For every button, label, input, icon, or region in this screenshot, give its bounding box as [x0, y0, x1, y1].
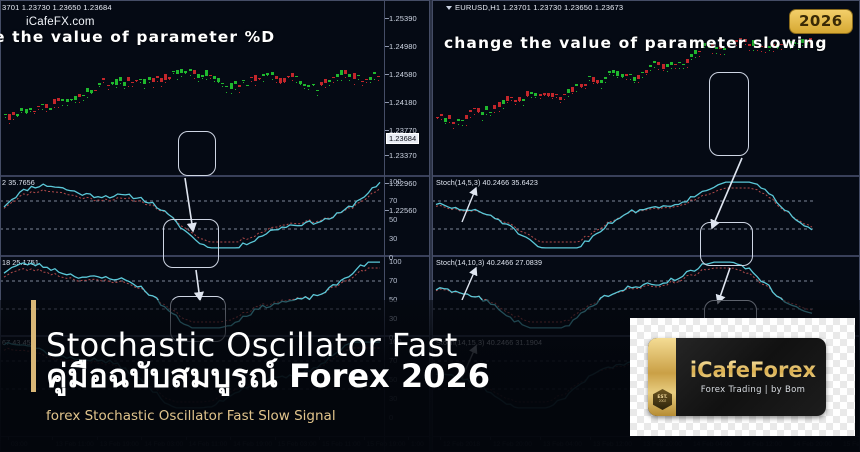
candle-body: [481, 112, 484, 115]
candle-wick: [474, 114, 475, 115]
candle-body: [37, 106, 40, 107]
candle-body: [600, 80, 603, 83]
candle-body: [440, 114, 443, 116]
candle-body: [115, 79, 118, 84]
candle-body: [98, 83, 101, 85]
candle-wick: [597, 83, 598, 84]
logo-tagline: Forex Trading | by Bom: [684, 385, 822, 395]
candle-wick: [687, 67, 688, 68]
candle-body: [588, 76, 591, 77]
candle-body: [25, 109, 28, 113]
candle-body: [616, 71, 619, 76]
candle-body: [657, 62, 660, 65]
candle-body: [271, 72, 274, 75]
candle-wick: [494, 112, 495, 113]
candle-wick: [54, 107, 55, 108]
candle-body: [498, 102, 501, 107]
candle-wick: [157, 81, 158, 82]
candle-wick: [691, 59, 692, 60]
candle-body: [275, 76, 278, 80]
stoch-scale-label: 100: [389, 257, 402, 266]
candle-wick: [490, 115, 491, 116]
candle-wick: [601, 88, 602, 89]
candle-wick: [263, 81, 264, 82]
candle-wick: [540, 98, 541, 99]
candle-body: [234, 81, 237, 84]
candle-body: [287, 76, 290, 77]
candle-body: [238, 85, 241, 88]
candle-wick: [30, 111, 31, 112]
candle-wick: [280, 83, 281, 84]
candle-body: [666, 64, 669, 67]
candle-wick: [527, 96, 528, 97]
screenshot-root: 3701 1.23730 1.23650 1.23684 2 35.7656 1…: [0, 0, 860, 452]
candle-body: [547, 93, 550, 96]
candle-wick: [642, 77, 643, 78]
candle-wick: [5, 117, 6, 118]
candle-wick: [222, 86, 223, 87]
candle-wick: [272, 79, 273, 80]
candle-body: [131, 82, 134, 83]
candle-body: [336, 74, 339, 77]
watermark: iCafeFX.com: [26, 16, 95, 28]
candle-body: [111, 82, 114, 84]
candle-body: [649, 65, 652, 67]
candle-wick: [149, 82, 150, 83]
candle-body: [78, 94, 81, 97]
candle-wick: [128, 86, 129, 87]
candle-body: [625, 74, 628, 76]
candle-body: [530, 92, 533, 94]
candle-body: [457, 119, 460, 120]
candle-body: [250, 77, 253, 78]
candle-wick: [181, 76, 182, 77]
overlay-subtitle: forex Stochastic Oscillator Fast Slow Si…: [46, 408, 336, 424]
candle-wick: [593, 83, 594, 84]
candle-body: [324, 79, 327, 82]
candle-body: [452, 122, 455, 123]
candle-wick: [679, 68, 680, 69]
candle-body: [436, 117, 439, 118]
candle-body: [66, 99, 69, 102]
candle-wick: [374, 79, 375, 80]
candle-body: [213, 76, 216, 79]
candle-wick: [482, 120, 483, 121]
candle-body: [563, 94, 566, 95]
candle-wick: [453, 128, 454, 129]
candle-wick: [87, 97, 88, 98]
candle-wick: [499, 111, 500, 112]
candle-body: [678, 62, 681, 63]
candle-wick: [605, 82, 606, 83]
candle-wick: [165, 82, 166, 83]
candle-body: [29, 108, 32, 110]
candle-body: [510, 97, 513, 98]
candle-wick: [112, 84, 113, 85]
candle-body: [580, 84, 583, 87]
right-highlight-price: [709, 72, 749, 156]
candle-wick: [202, 78, 203, 79]
candle-wick: [79, 102, 80, 103]
candle-body: [690, 54, 693, 57]
candle-body: [444, 118, 447, 122]
candle-body: [193, 70, 196, 74]
candle-wick: [523, 105, 524, 106]
candle-wick: [724, 54, 725, 55]
candle-wick: [630, 79, 631, 80]
candle-wick: [589, 80, 590, 81]
candle-body: [682, 64, 685, 65]
candle-body: [377, 76, 380, 77]
candle-body: [139, 79, 142, 80]
candle-body: [469, 110, 472, 112]
right-sep-1: [432, 175, 860, 177]
candle-body: [518, 97, 521, 101]
candle-body: [555, 94, 558, 95]
candle-wick: [720, 54, 721, 55]
candle-wick: [683, 68, 684, 69]
candle-wick: [634, 82, 635, 83]
candle-wick: [535, 97, 536, 98]
candle-wick: [441, 119, 442, 120]
candle-body: [506, 96, 509, 101]
candle-body: [180, 69, 183, 73]
candle-wick: [161, 86, 162, 87]
candle-body: [205, 70, 208, 75]
candle-body: [353, 73, 356, 79]
stoch-scale-label: 100: [389, 177, 402, 186]
candle-wick: [699, 56, 700, 57]
candle-wick: [91, 93, 92, 94]
candle-wick: [26, 113, 27, 114]
candle-wick: [325, 87, 326, 88]
left-indicator-label-1: 2 35.7656: [2, 178, 35, 187]
right-indicator-label-1: Stoch(14,5,3) 40.2466 35.6423: [436, 178, 538, 187]
candle-body: [156, 76, 159, 77]
candle-body: [493, 105, 496, 109]
candle-body: [197, 74, 200, 78]
candle-wick: [140, 82, 141, 83]
candle-wick: [341, 80, 342, 81]
candle-wick: [511, 100, 512, 101]
candle-body: [489, 112, 492, 113]
candle-body: [477, 108, 480, 112]
candle-wick: [214, 81, 215, 82]
candle-wick: [321, 85, 322, 86]
candle-wick: [366, 82, 367, 83]
candle-wick: [292, 80, 293, 81]
candle-wick: [21, 112, 22, 113]
candle-body: [621, 74, 624, 76]
candle-body: [604, 77, 607, 79]
candle-wick: [231, 93, 232, 94]
candle-body: [217, 78, 220, 82]
candle-wick: [671, 68, 672, 69]
candle-body: [127, 77, 130, 81]
left-annotation-text: e the value of parameter %D: [0, 28, 275, 46]
right-highlight-stoch-1: [700, 222, 753, 266]
candle-wick: [153, 87, 154, 88]
candle-wick: [34, 113, 35, 114]
candle-wick: [486, 114, 487, 115]
candle-body: [12, 112, 15, 115]
gold-accent-bar: [31, 300, 36, 392]
candle-wick: [581, 87, 582, 88]
candle-wick: [358, 79, 359, 80]
candle-body: [502, 100, 505, 104]
candle-body: [230, 83, 233, 89]
candle-body: [608, 71, 611, 73]
candle-wick: [544, 95, 545, 96]
candle-wick: [124, 88, 125, 89]
candle-body: [448, 115, 451, 119]
candle-body: [61, 99, 64, 102]
candle-body: [53, 99, 56, 105]
left-highlight-price: [178, 131, 216, 176]
candle-wick: [695, 57, 696, 58]
candle-body: [283, 78, 286, 82]
candle-body: [584, 84, 587, 85]
candle-body: [473, 108, 476, 110]
candle-body: [123, 82, 126, 86]
candle-wick: [62, 105, 63, 106]
candle-body: [152, 78, 155, 82]
candle-wick: [646, 74, 647, 75]
candle-wick: [116, 87, 117, 88]
candle-wick: [300, 84, 301, 85]
candle-body: [357, 75, 360, 76]
candle-body: [369, 77, 372, 80]
candle-body: [168, 77, 171, 78]
candle-body: [485, 106, 488, 110]
right-sep-2: [432, 255, 860, 257]
candle-body: [45, 104, 48, 108]
candle-wick: [206, 79, 207, 80]
candle-body: [303, 84, 306, 86]
candle-body: [559, 97, 562, 99]
candle-body: [332, 77, 335, 78]
candle-body: [82, 95, 85, 96]
stoch-scale-label: 70: [389, 276, 397, 285]
candle-body: [534, 93, 537, 96]
candle-body: [575, 84, 578, 87]
candle-wick: [556, 97, 557, 98]
candle-wick: [667, 71, 668, 72]
candle-wick: [507, 102, 508, 103]
candle-wick: [296, 82, 297, 83]
candle-wick: [108, 89, 109, 90]
candle-body: [662, 64, 665, 68]
stoch-scale-label: 30: [389, 234, 397, 243]
candle-wick: [173, 73, 174, 74]
candle-body: [209, 75, 212, 76]
year-badge: 2026: [789, 9, 853, 34]
candle-body: [592, 77, 595, 82]
candle-body: [514, 100, 517, 101]
candle-body: [340, 70, 343, 75]
candle-body: [686, 59, 689, 63]
candle-wick: [609, 74, 610, 75]
candle-body: [86, 88, 89, 93]
candle-body: [612, 70, 615, 74]
left-highlight-stoch-1: [163, 219, 219, 268]
candle-body: [596, 80, 599, 82]
candle-body: [645, 70, 648, 73]
candle-wick: [470, 117, 471, 118]
candle-wick: [120, 83, 121, 84]
candle-wick: [17, 116, 18, 117]
candle-wick: [765, 52, 766, 53]
candle-wick: [329, 85, 330, 86]
candle-body: [539, 94, 542, 96]
candle-wick: [449, 122, 450, 123]
candle-wick: [638, 82, 639, 83]
candle-body: [551, 93, 554, 97]
candle-body: [254, 75, 257, 81]
stoch-scale-label: 70: [389, 196, 397, 205]
candle-body: [33, 111, 36, 112]
candle-wick: [354, 84, 355, 85]
candle-body: [637, 75, 640, 79]
candle-body: [258, 78, 261, 79]
candle-body: [16, 114, 19, 115]
candle-body: [160, 78, 163, 82]
candle-body: [316, 90, 319, 91]
candle-wick: [613, 75, 614, 76]
candle-wick: [83, 100, 84, 101]
candle-body: [172, 71, 175, 72]
candle-body: [221, 83, 224, 84]
candle-body: [522, 99, 525, 101]
price-tick-label: 1.24180: [389, 98, 417, 107]
candle-wick: [622, 77, 623, 78]
candle-wick: [267, 75, 268, 76]
candle-wick: [190, 75, 191, 76]
candle-wick: [210, 78, 211, 79]
candle-body: [312, 84, 315, 85]
candle-body: [629, 74, 632, 75]
candle-body: [107, 85, 110, 86]
candle-body: [90, 90, 93, 93]
price-tick-label: 1.24580: [389, 70, 417, 79]
candle-wick: [284, 82, 285, 83]
overlay-title-line-2: คู่มือฉบับสมบูรณ์ Forex 2026: [46, 351, 490, 402]
logo-card[interactable]: EST. 2002 iCafeForex Forex Trading | by …: [648, 338, 826, 416]
candle-wick: [658, 69, 659, 70]
candle-wick: [194, 78, 195, 79]
candle-body: [373, 72, 376, 74]
candle-body: [8, 114, 11, 120]
candle-body: [291, 73, 294, 77]
candle-body: [164, 74, 167, 80]
stoch-scale-label: 50: [389, 215, 397, 224]
candle-body: [299, 81, 302, 84]
candle-wick: [9, 123, 10, 124]
candle-wick: [478, 112, 479, 113]
right-indicator-label-2: Stoch(14,10,3) 40.2466 27.0839: [436, 258, 542, 267]
candle-wick: [462, 125, 463, 126]
candle-wick: [712, 53, 713, 54]
candle-body: [641, 72, 644, 73]
candle-wick: [466, 125, 467, 126]
candle-wick: [177, 79, 178, 80]
candle-wick: [42, 109, 43, 110]
candle-wick: [218, 82, 219, 83]
right-annotation-text: change the value of parameter slowing: [444, 34, 828, 52]
candle-body: [4, 114, 7, 115]
candle-wick: [317, 95, 318, 96]
candle-wick: [576, 91, 577, 92]
candle-wick: [13, 119, 14, 120]
candle-body: [348, 74, 351, 77]
price-tick-label: 1.24980: [389, 42, 417, 51]
candle-wick: [370, 82, 371, 83]
candle-wick: [169, 79, 170, 80]
candle-wick: [519, 101, 520, 102]
candle-body: [653, 61, 656, 63]
candle-body: [184, 71, 187, 73]
candle-wick: [458, 124, 459, 125]
candle-body: [461, 120, 464, 121]
candle-wick: [515, 104, 516, 105]
stoch-main-line: [436, 182, 812, 248]
candle-body: [70, 99, 73, 100]
candle-wick: [445, 123, 446, 124]
candle-wick: [503, 108, 504, 109]
candle-wick: [67, 105, 68, 106]
candle-body: [344, 70, 347, 74]
candle-body: [20, 108, 23, 110]
candle-wick: [378, 80, 379, 81]
candle-body: [365, 79, 368, 80]
candle-wick: [235, 89, 236, 90]
candle-body: [674, 64, 677, 65]
candle-body: [119, 77, 122, 81]
candle-wick: [349, 80, 350, 81]
candle-body: [176, 70, 179, 75]
candle-body: [307, 85, 310, 87]
candle-wick: [38, 109, 39, 110]
candle-wick: [276, 82, 277, 83]
logo-name: iCafeForex: [684, 358, 822, 382]
candle-body: [49, 108, 52, 109]
logo-panel: EST. 2002 iCafeForex Forex Trading | by …: [630, 318, 855, 436]
candle-body: [361, 81, 364, 83]
price-tick-label: 1.22560: [389, 206, 417, 215]
candle-wick: [308, 89, 309, 90]
candle-body: [567, 89, 570, 93]
candle-wick: [259, 79, 260, 80]
candle-body: [571, 87, 574, 92]
candle-body: [41, 104, 44, 105]
candle-body: [148, 77, 151, 80]
candle-body: [633, 77, 636, 81]
candle-wick: [185, 73, 186, 74]
candle-body: [225, 86, 228, 87]
candle-wick: [243, 82, 244, 83]
candle-wick: [564, 99, 565, 100]
candle-wick: [99, 86, 100, 87]
candle-body: [201, 75, 204, 77]
candle-body: [94, 90, 97, 91]
candle-body: [135, 80, 138, 81]
candle-wick: [333, 82, 334, 83]
current-price-label: 1.23684: [386, 133, 419, 144]
candle-body: [295, 76, 298, 78]
candle-wick: [626, 79, 627, 80]
candle-wick: [617, 77, 618, 78]
candle-wick: [568, 96, 569, 97]
